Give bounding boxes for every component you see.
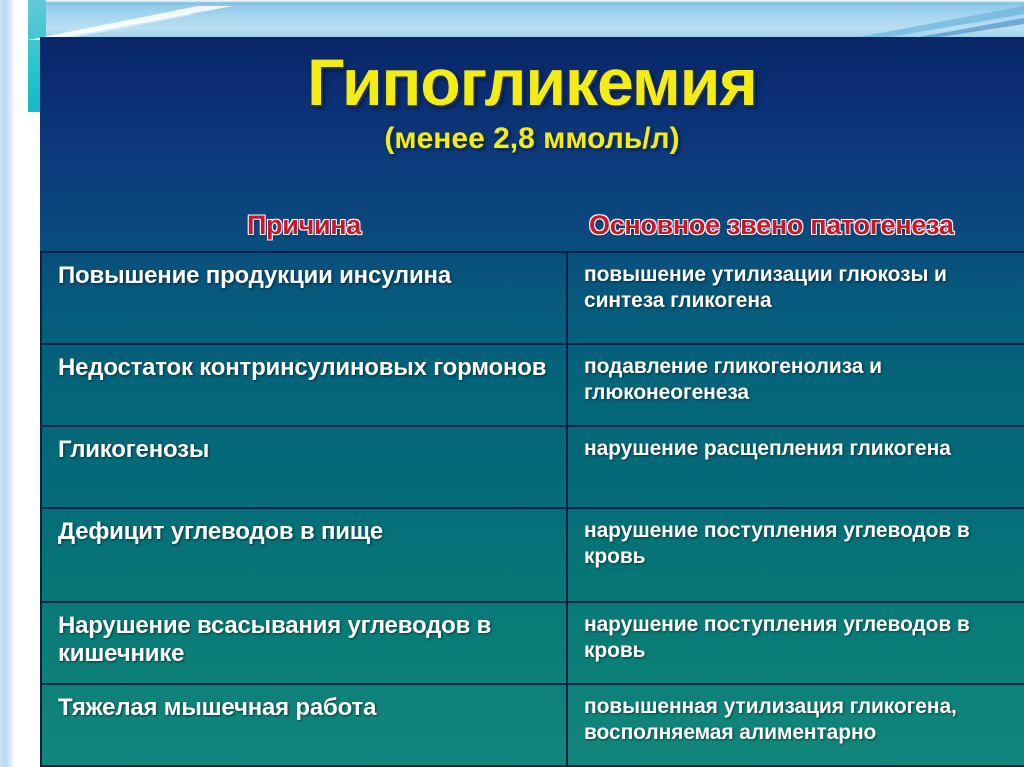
slide-root: Гипогликемия (менее 2,8 ммоль/л) Причина…	[0, 0, 1024, 767]
table-row: Дефицит углеводов в пищенарушение поступ…	[41, 508, 1024, 602]
cell-mechanism-line: повышение утилизации глюкозы и	[584, 262, 1024, 288]
slide-canvas: Гипогликемия (менее 2,8 ммоль/л) Причина…	[40, 37, 1024, 767]
table-row: Недостаток контринсулиновых гормоновпода…	[41, 344, 1024, 426]
cell-mechanism: повышение утилизации глюкозы исинтеза гл…	[567, 252, 1024, 344]
decor-top-band	[28, 0, 1024, 37]
cell-mechanism: повышенная утилизация гликогена,восполня…	[567, 684, 1024, 766]
cell-mechanism-line: нарушение поступления углеводов в	[584, 612, 1024, 638]
cell-cause: Нарушение всасывания углеводов в кишечни…	[41, 602, 567, 684]
cell-mechanism: нарушение поступления углеводов вкровь	[567, 508, 1024, 602]
decor-left-band	[0, 0, 13, 767]
title-block: Гипогликемия (менее 2,8 ммоль/л)	[40, 49, 1024, 156]
table-row: Гликогенозынарушение расщепления гликоге…	[41, 426, 1024, 508]
table-row: Повышение продукции инсулинаповышение ут…	[41, 252, 1024, 344]
cell-mechanism-line: глюконеогенеза	[584, 380, 1024, 406]
cell-cause: Недостаток контринсулиновых гормонов	[41, 344, 567, 426]
table-header-row: Причина Основное звено патогенеза	[41, 204, 1024, 252]
cell-cause: Тяжелая мышечная работа	[41, 684, 567, 766]
cell-mechanism-line: нарушение поступления углеводов в	[584, 518, 1024, 544]
cell-mechanism-line: повышенная утилизация гликогена,	[584, 694, 1024, 720]
table-header: Причина Основное звено патогенеза	[41, 204, 1024, 252]
cell-mechanism-line: синтеза гликогена	[584, 288, 1024, 314]
cell-cause: Дефицит углеводов в пище	[41, 508, 567, 602]
cell-cause: Повышение продукции инсулина	[41, 252, 567, 344]
causes-table-wrapper: Причина Основное звено патогенеза Повыше…	[40, 204, 1024, 767]
decor-left-white-gap	[13, 0, 28, 767]
cell-mechanism-line: кровь	[584, 544, 1024, 570]
cell-mechanism-line: подавление гликогенолиза и	[584, 354, 1024, 380]
cell-mechanism: нарушение расщепления гликогена	[567, 426, 1024, 508]
cell-mechanism-line: нарушение расщепления гликогена	[584, 436, 1024, 462]
page-subtitle: (менее 2,8 ммоль/л)	[40, 122, 1024, 156]
causes-table: Причина Основное звено патогенеза Повыше…	[40, 204, 1024, 767]
cell-mechanism: подавление гликогенолиза иглюконеогенеза	[567, 344, 1024, 426]
column-header-cause: Причина	[41, 204, 567, 252]
cell-cause: Гликогенозы	[41, 426, 567, 508]
cell-mechanism-line: кровь	[584, 638, 1024, 664]
table-row: Нарушение всасывания углеводов в кишечни…	[41, 602, 1024, 684]
column-header-mechanism: Основное звено патогенеза	[567, 204, 1024, 252]
table-row: Тяжелая мышечная работаповышенная утилиз…	[41, 684, 1024, 766]
page-title: Гипогликемия	[40, 49, 1024, 116]
decor-top-rule	[28, 0, 1024, 4]
cell-mechanism: нарушение поступления углеводов вкровь	[567, 602, 1024, 684]
table-body: Повышение продукции инсулинаповышение ут…	[41, 252, 1024, 767]
cell-mechanism-line: восполняемая алиментарно	[584, 720, 1024, 746]
